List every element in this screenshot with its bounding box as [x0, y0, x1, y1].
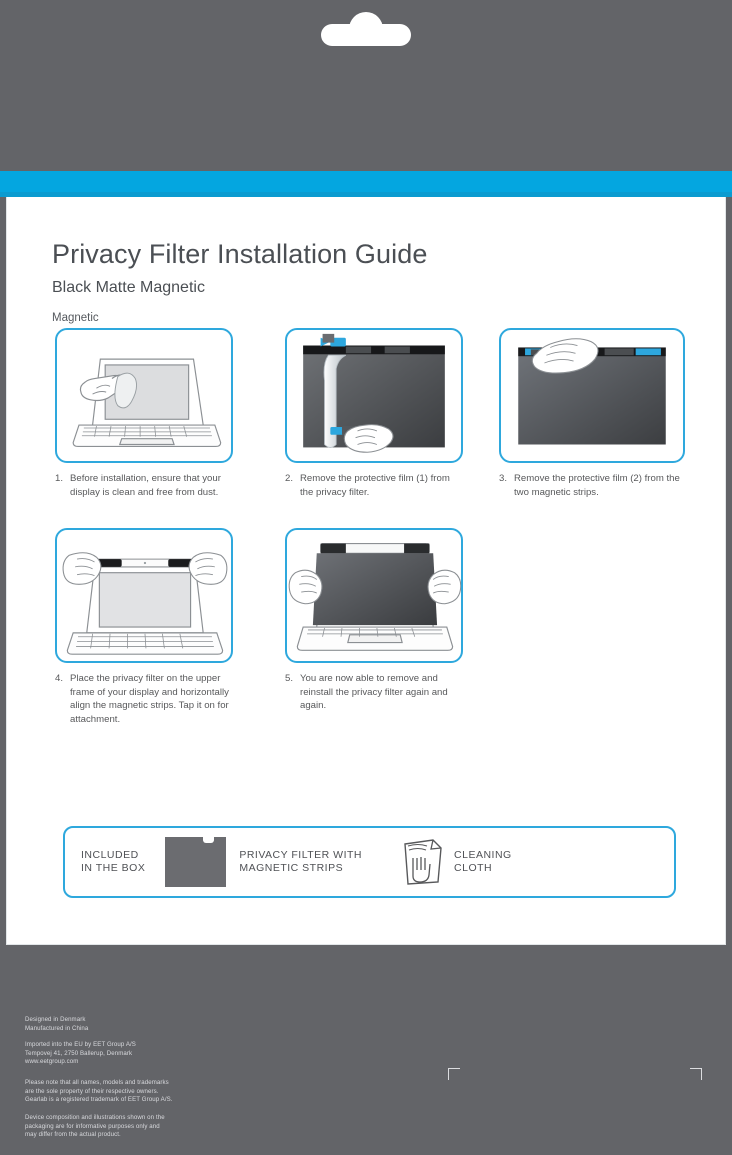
step-3-text: Remove the protective film (2) from the … [514, 472, 685, 499]
packaging-back-panel: Privacy Filter Installation Guide Black … [0, 0, 732, 1155]
hang-slot-icon [321, 24, 411, 46]
step-2-text: Remove the protective film (1) from the … [300, 472, 463, 499]
step-2: 2. Remove the protective film (1) from t… [285, 328, 463, 499]
step-2-number: 2. [285, 472, 300, 499]
included-item-cloth-label: CLEANING CLOTH [454, 849, 512, 876]
step-2-illustration [285, 328, 463, 463]
footer-importer: Imported into the EU by EET Group A/S Te… [25, 1041, 136, 1067]
included-in-box-heading: INCLUDED IN THE BOX [81, 849, 145, 876]
privacy-filter-swatch-icon [165, 837, 226, 887]
included-item-filter-label: PRIVACY FILTER WITH MAGNETIC STRIPS [239, 849, 362, 876]
step-2-caption: 2. Remove the protective film (1) from t… [285, 472, 463, 499]
step-1: 1. Before installation, ensure that your… [55, 328, 233, 499]
step-3: 3. Remove the protective film (2) from t… [499, 328, 685, 499]
cleaning-cloth-icon [400, 838, 444, 886]
step-4-number: 4. [55, 672, 70, 726]
crop-mark-right-icon [690, 1068, 702, 1080]
step-5-illustration [285, 528, 463, 663]
step-4-illustration [55, 528, 233, 663]
step-1-number: 1. [55, 472, 70, 499]
step-5-caption: 5. You are now able to remove and reinst… [285, 672, 463, 713]
step-4-text: Place the privacy filter on the upper fr… [70, 672, 233, 726]
step-5-number: 5. [285, 672, 300, 713]
page-title: Privacy Filter Installation Guide [52, 239, 427, 270]
step-1-caption: 1. Before installation, ensure that your… [55, 472, 233, 499]
section-label: Magnetic [52, 312, 99, 324]
step-3-illustration [499, 328, 685, 463]
step-4: 4. Place the privacy filter on the upper… [55, 528, 233, 726]
included-in-box-bar: INCLUDED IN THE BOX PRIVACY FILTER WITH … [63, 826, 676, 898]
page-subtitle: Black Matte Magnetic [52, 279, 205, 297]
crop-mark-left-icon [448, 1068, 460, 1080]
step-1-illustration [55, 328, 233, 463]
step-4-caption: 4. Place the privacy filter on the upper… [55, 672, 233, 726]
footer-trademarks: Please note that all names, models and t… [25, 1079, 173, 1105]
footer-disclaimer: Device composition and illustrations sho… [25, 1114, 165, 1140]
step-3-caption: 3. Remove the protective film (2) from t… [499, 472, 685, 499]
step-5-text: You are now able to remove and reinstall… [300, 672, 463, 713]
step-3-number: 3. [499, 472, 514, 499]
step-5: 5. You are now able to remove and reinst… [285, 528, 463, 713]
instruction-card: Privacy Filter Installation Guide Black … [6, 197, 726, 945]
step-1-text: Before installation, ensure that your di… [70, 472, 233, 499]
footer-origin: Designed in Denmark Manufactured in Chin… [25, 1016, 88, 1033]
